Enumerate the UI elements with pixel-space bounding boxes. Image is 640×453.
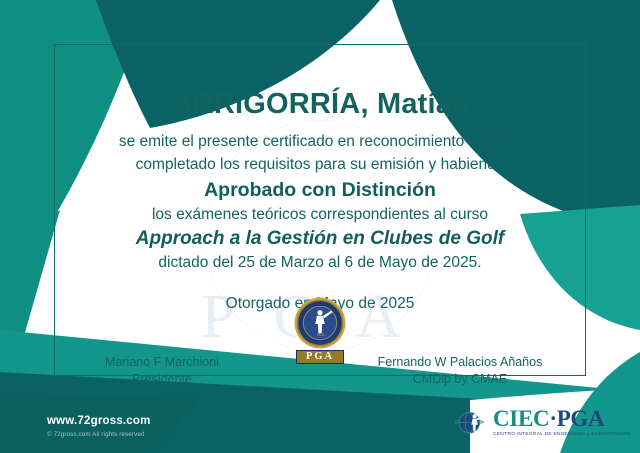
- course-dates: dictado del 25 de Marzo al 6 de Mayo de …: [54, 253, 586, 274]
- certificate-document: PGA ARRIGORRÍA, Matías se emite el prese…: [0, 0, 640, 453]
- signature-right-role: CMDip by CMAE: [360, 371, 560, 388]
- ciec-pga-logo: CIEC·PGA CENTRO INTEGRAL DE ENSEÑANZA y …: [455, 405, 630, 439]
- body-line-1: se emite el presente certificado en reco…: [54, 132, 586, 153]
- award-level: Aprobado con Distinción: [54, 179, 586, 202]
- ciec-globe-golfer-icon: [455, 405, 489, 439]
- pga-seal: 1926 PGA: [287, 297, 353, 364]
- svg-text:1926: 1926: [316, 333, 323, 337]
- recipient-name: ARRIGORRÍA, Matías: [54, 89, 586, 121]
- footer-website[interactable]: www.72gross.com: [47, 415, 151, 427]
- brand-separator: ·: [549, 406, 556, 431]
- body-line-3: los exámenes teóricos correspondientes a…: [54, 205, 586, 226]
- signature-left-role: Presidente: [62, 371, 262, 388]
- brand-name-ciec: CIEC: [493, 406, 549, 431]
- brand-name-pga: PGA: [557, 406, 605, 431]
- brand-text-block: CIEC·PGA CENTRO INTEGRAL DE ENSEÑANZA y …: [493, 407, 630, 437]
- brand-tagline: CENTRO INTEGRAL DE ENSEÑANZA y CAPACITAC…: [493, 432, 630, 437]
- brand-title: CIEC·PGA: [493, 407, 630, 430]
- pga-seal-icon: 1926: [294, 297, 346, 349]
- certificate-body: ARRIGORRÍA, Matías se emite el presente …: [54, 44, 586, 313]
- signature-right-name: Fernando W Palacios Añaños: [360, 354, 560, 371]
- signature-right: Fernando W Palacios Añaños CMDip by CMAE: [360, 354, 560, 389]
- signature-left: Mariano F Marchioni Presidente: [62, 354, 262, 389]
- course-title: Approach a la Gestión en Clubes de Golf: [54, 228, 586, 251]
- pga-seal-bar-label: PGA: [296, 350, 344, 364]
- signature-left-name: Mariano F Marchioni: [62, 354, 262, 371]
- body-line-2: completado los requisitos para su emisió…: [54, 155, 586, 176]
- footer-copyright: © 72gross.com All rights reserved: [47, 431, 145, 438]
